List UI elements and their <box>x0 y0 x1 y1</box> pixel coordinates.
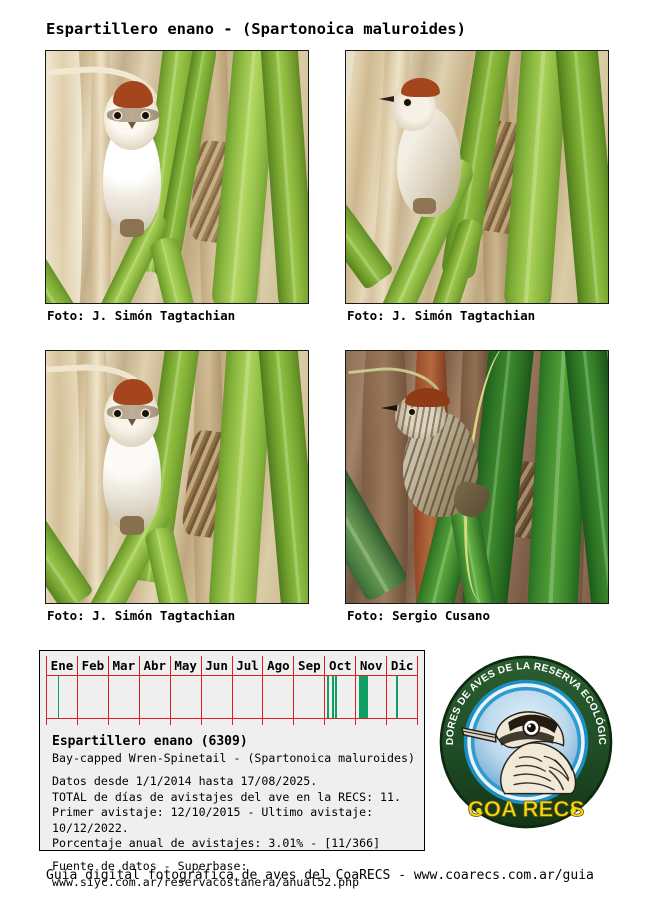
calendar-tick <box>387 719 417 725</box>
sightings-panel: EneFebMarAbrMayJunJulAgoSepOctNovDic Esp… <box>39 650 425 851</box>
photo-top-left: Foto: J. Simón Tagtachian <box>45 50 309 332</box>
photo-bottom-right: Foto: Sergio Cusano <box>345 350 609 632</box>
annual-percentage-text: Porcentaje anual de avistajes: 3.01% - [… <box>52 836 416 851</box>
photo-image-top-right <box>345 50 609 304</box>
calendar-tick <box>356 719 386 725</box>
photo-top-right: Foto: J. Simón Tagtachian <box>345 50 609 332</box>
photo-image-bottom-left <box>45 350 309 604</box>
calendar-month-track <box>387 676 417 719</box>
sighting-mark <box>332 676 334 718</box>
calendar-month-track <box>171 676 201 719</box>
total-days-text: TOTAL de días de avistajes del ave en la… <box>52 790 416 805</box>
calendar-month-track <box>356 676 386 719</box>
calendar-month-label: May <box>171 656 201 676</box>
calendar-month-label: Dic <box>387 656 417 676</box>
calendar-month-track <box>202 676 232 719</box>
species-name-en: Bay-capped Wren-Spinetail - (Spartonoica… <box>52 751 416 766</box>
monthly-sightings-calendar: EneFebMarAbrMayJunJulAgoSepOctNovDic <box>46 656 418 725</box>
calendar-column-ene: Ene <box>46 656 77 725</box>
calendar-tick <box>47 719 77 725</box>
calendar-column-jul: Jul <box>232 656 263 725</box>
calendar-month-label: Sep <box>294 656 324 676</box>
page-footer: Guía digital fotográfica de aves del Coa… <box>46 868 594 883</box>
calendar-month-label: Feb <box>78 656 108 676</box>
calendar-month-track <box>47 676 77 719</box>
sighting-mark <box>361 676 368 718</box>
calendar-month-label: Jun <box>202 656 232 676</box>
calendar-column-jun: Jun <box>201 656 232 725</box>
calendar-month-track <box>109 676 139 719</box>
bird-subject <box>98 81 171 237</box>
calendar-column-oct: Oct <box>324 656 355 725</box>
logo-brand-text: COA RECS <box>468 797 585 822</box>
calendar-column-mar: Mar <box>108 656 139 725</box>
calendar-tick <box>78 719 108 725</box>
calendar-tick <box>233 719 263 725</box>
calendar-month-label: Nov <box>356 656 386 676</box>
calendar-month-label: Abr <box>140 656 170 676</box>
calendar-tick <box>202 719 232 725</box>
calendar-month-track <box>263 676 293 719</box>
calendar-tick <box>171 719 201 725</box>
photo-caption: Foto: J. Simón Tagtachian <box>47 608 235 623</box>
calendar-month-label: Jul <box>233 656 263 676</box>
sighting-mark <box>58 676 59 718</box>
bird-subject <box>383 386 483 517</box>
first-last-sighting-text: Primer avistaje: 12/10/2015 - Ultimo avi… <box>52 805 416 836</box>
calendar-month-track <box>325 676 355 719</box>
calendar-month-label: Ago <box>263 656 293 676</box>
calendar-tick <box>140 719 170 725</box>
calendar-tick <box>294 719 324 725</box>
calendar-column-may: May <box>170 656 201 725</box>
photo-bottom-left: Foto: J. Simón Tagtachian <box>45 350 309 632</box>
coa-recs-logo: CLUB DE OBSERVADORES DE AVES DE LA RESER… <box>437 653 615 831</box>
guide-page: Espartillero enano - (Spartonoica maluro… <box>0 0 660 910</box>
calendar-column-sep: Sep <box>293 656 324 725</box>
sighting-mark <box>359 676 361 718</box>
calendar-month-label: Oct <box>325 656 355 676</box>
species-name-es: Espartillero enano (6309) <box>52 733 416 751</box>
data-range-text: Datos desde 1/1/2014 hasta 17/08/2025. <box>52 774 416 789</box>
calendar-column-dic: Dic <box>386 656 417 725</box>
sighting-mark <box>335 676 337 718</box>
page-title: Espartillero enano - (Spartonoica maluro… <box>46 20 466 38</box>
calendar-month-track <box>233 676 263 719</box>
photo-caption: Foto: J. Simón Tagtachian <box>347 308 535 323</box>
calendar-month-track <box>78 676 108 719</box>
calendar-column-feb: Feb <box>77 656 108 725</box>
photo-image-top-left <box>45 50 309 304</box>
calendar-month-track <box>140 676 170 719</box>
calendar-grid: EneFebMarAbrMayJunJulAgoSepOctNovDic <box>46 656 418 725</box>
calendar-tick <box>325 719 355 725</box>
calendar-column-nov: Nov <box>355 656 386 725</box>
calendar-month-label: Ene <box>47 656 77 676</box>
bird-subject <box>377 76 466 217</box>
sighting-mark <box>396 676 398 718</box>
calendar-month-track <box>294 676 324 719</box>
bird-subject <box>98 379 171 535</box>
calendar-tick <box>109 719 139 725</box>
calendar-column-ago: Ago <box>262 656 293 725</box>
calendar-tick <box>263 719 293 725</box>
sighting-mark <box>327 676 329 718</box>
photo-caption: Foto: J. Simón Tagtachian <box>47 308 235 323</box>
logo-svg: CLUB DE OBSERVADORES DE AVES DE LA RESER… <box>437 653 615 831</box>
calendar-column-abr: Abr <box>139 656 170 725</box>
species-info-block: Espartillero enano (6309) Bay-capped Wre… <box>52 733 416 890</box>
photo-image-bottom-right <box>345 350 609 604</box>
photo-caption: Foto: Sergio Cusano <box>347 608 490 623</box>
calendar-month-label: Mar <box>109 656 139 676</box>
